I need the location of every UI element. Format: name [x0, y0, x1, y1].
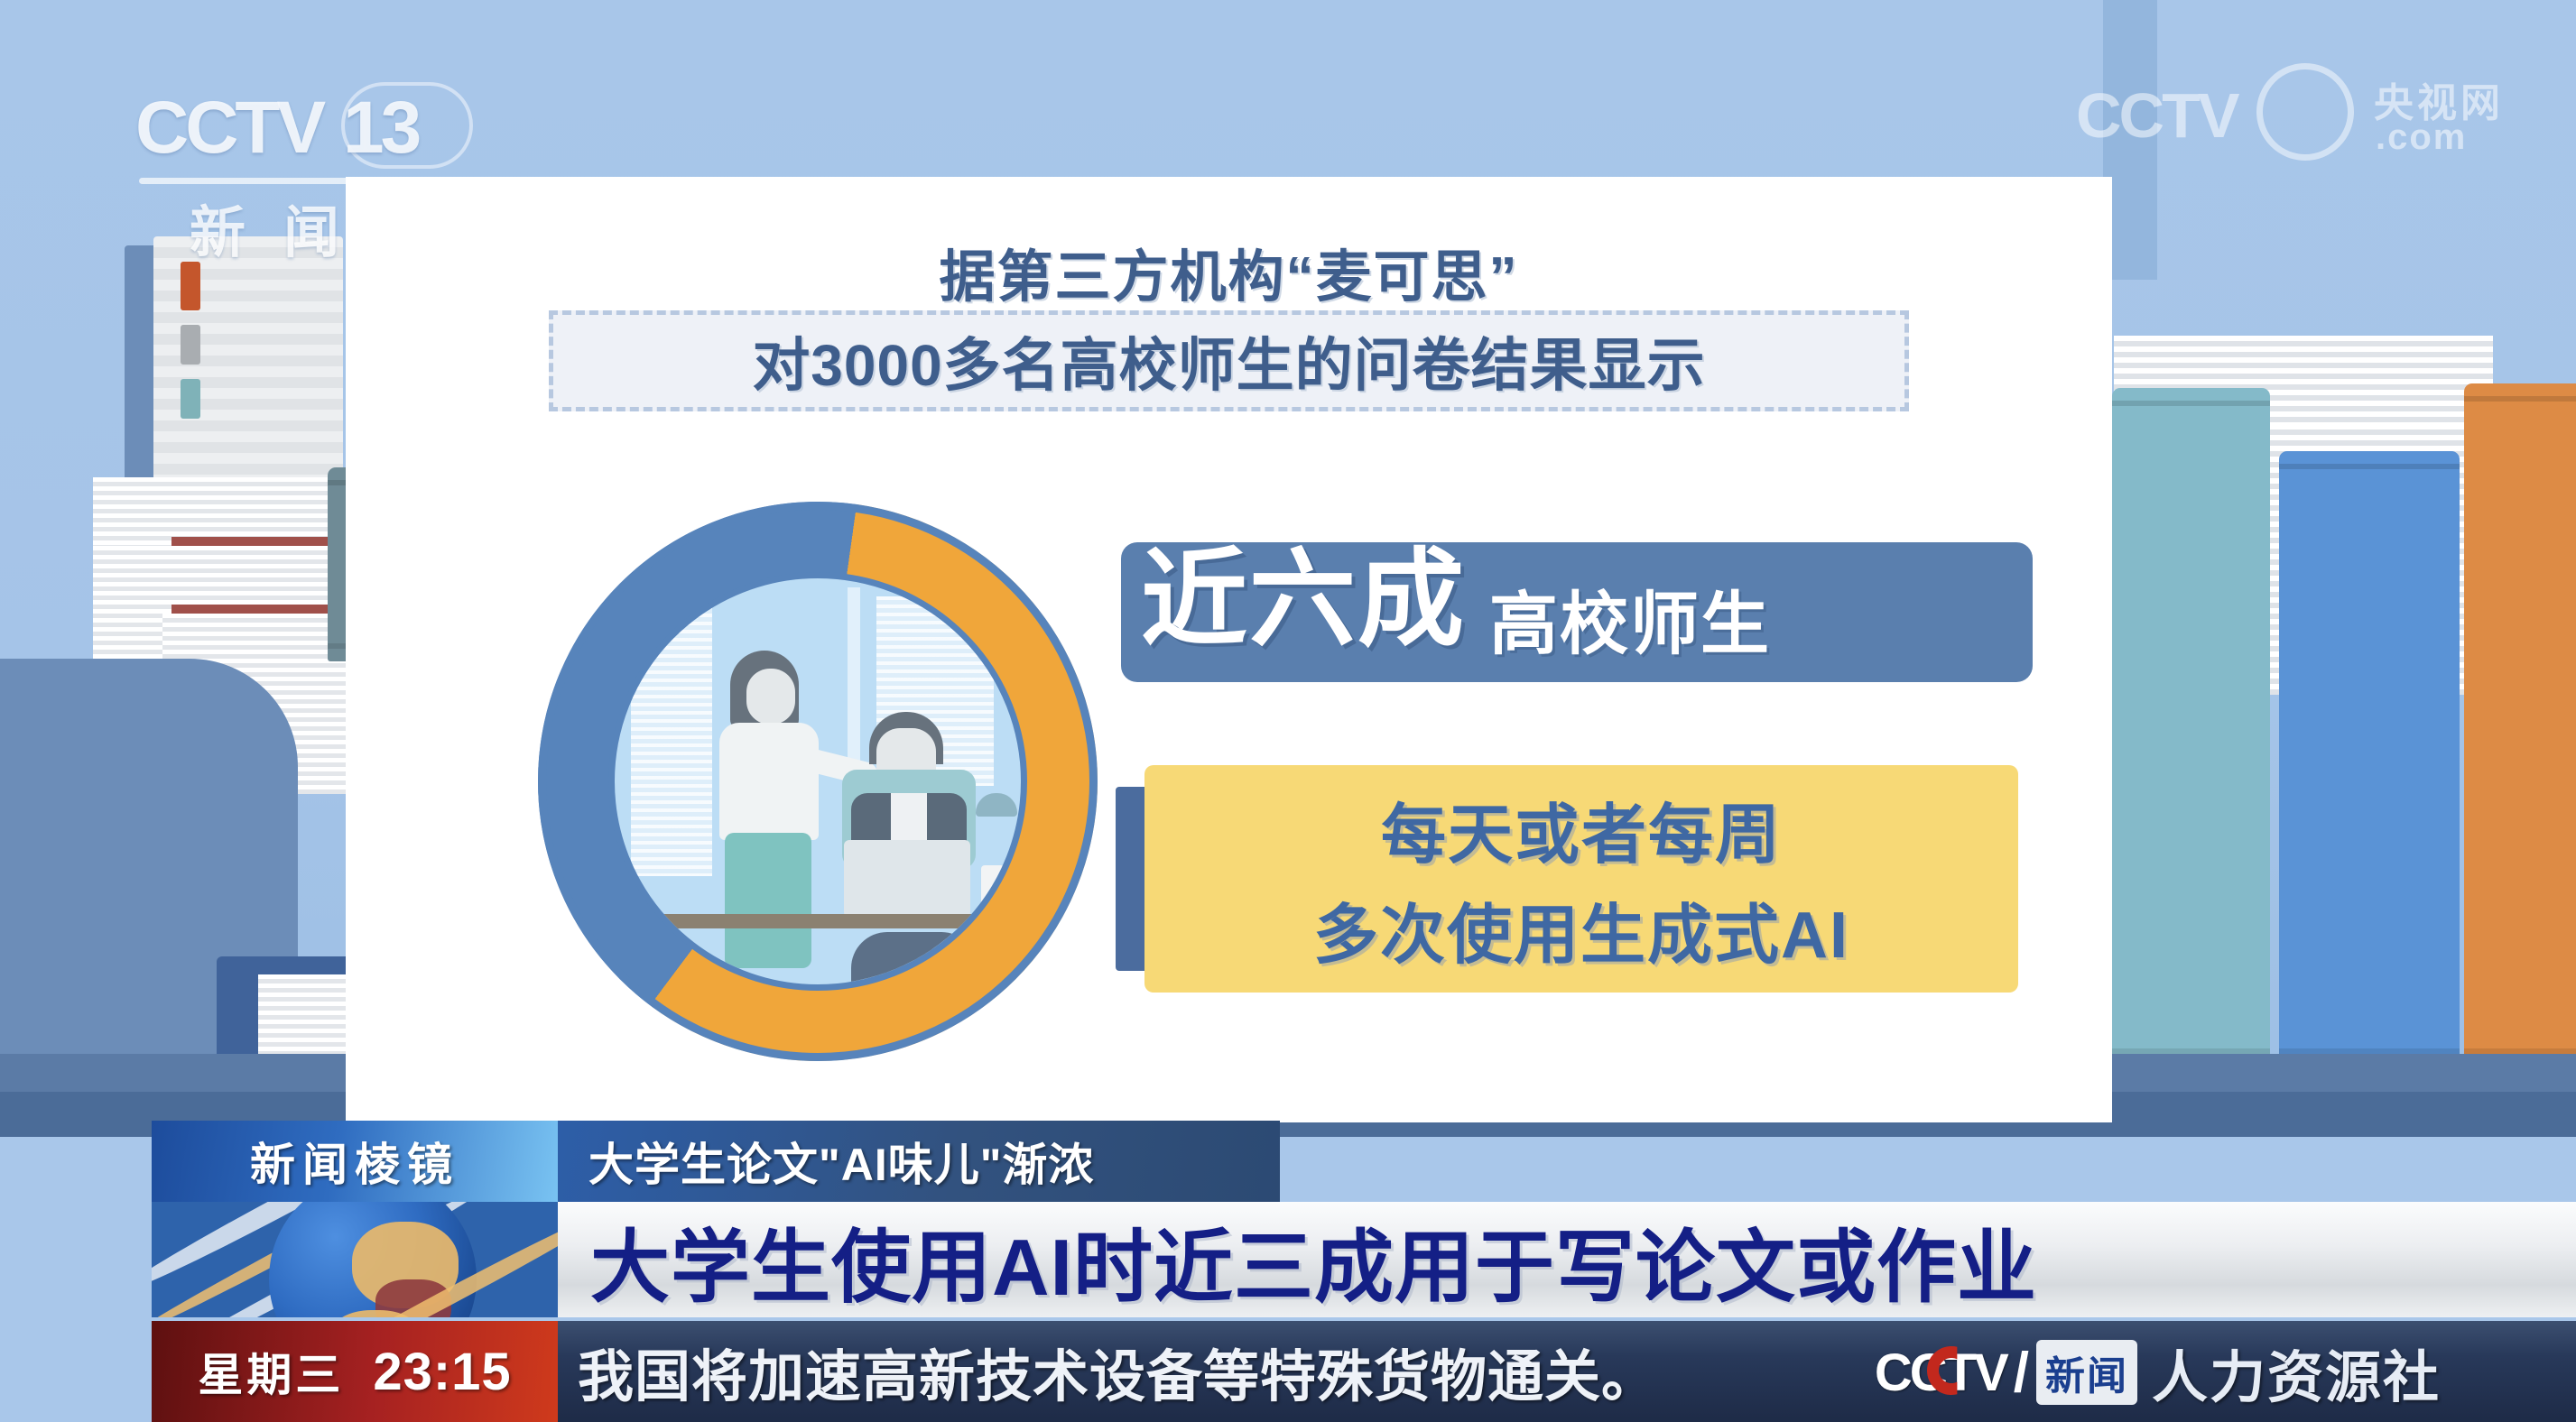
binder-tab-teal — [181, 379, 200, 419]
figure-woman-top — [719, 723, 819, 840]
donut-chart — [538, 502, 1098, 1061]
card-heading-line1: 据第三方机构“麦可思” — [346, 231, 2112, 312]
broadcast-screenshot: CCTV 13 新闻 CCTV 央视网 .com 据第三方机构“麦可思” 对30… — [0, 0, 2576, 1422]
kicker-label: 大学生论文"AI味儿"渐浓 — [588, 1129, 1094, 1194]
weekday-label: 星期三 — [198, 1339, 344, 1404]
figure-woman-pants — [725, 833, 811, 968]
scene-blinds-left — [631, 605, 712, 876]
laptop-screen — [844, 840, 970, 918]
binder-tab-orange — [181, 262, 200, 310]
callout-subject-label: 高校师生 — [1489, 568, 1771, 668]
yellow-callout-line1: 每天或者每周 — [1381, 781, 1782, 876]
binder-tab-gray — [181, 325, 200, 365]
datetime-box: 星期三 23:15 — [152, 1321, 558, 1422]
cctv-com-wordmark: CCTV — [2076, 79, 2238, 152]
cctv-com-watermark: CCTV 央视网 .com — [2076, 54, 2554, 162]
network-logo-slash-icon: / — [2014, 1341, 2029, 1405]
book-teal-right — [2112, 388, 2270, 1066]
donut-center-illustration — [608, 572, 1027, 991]
ticker-text: 我国将加速高新技术设备等特殊货物通关。 — [578, 1321, 1658, 1422]
network-logo: CCTV / 新闻 — [1875, 1337, 2137, 1408]
callout-big-number: 近六成 — [1141, 547, 1466, 653]
figure-chair-base — [851, 932, 978, 991]
cctv-com-domain: .com — [2376, 117, 2467, 158]
globe-graphic — [152, 1202, 558, 1317]
clock-label: 23:15 — [373, 1342, 511, 1402]
card-heading-line2: 对3000多名高校师生的问卷结果显示 — [549, 310, 1909, 411]
cctv-wordmark: CCTV — [135, 87, 322, 169]
scene-cup — [981, 865, 1005, 910]
headline-text: 大学生使用AI时近三成用于写论文或作业 — [590, 1207, 2037, 1314]
yellow-callout-line2: 多次使用生成式AI — [1313, 882, 1849, 976]
book-blue-right — [2279, 451, 2460, 1066]
cctv-com-ring-icon — [2256, 63, 2354, 161]
scene-desk-top — [615, 914, 1021, 928]
kicker-box: 大学生论文"AI味儿"渐浓 — [558, 1121, 1280, 1202]
blue-callout: 近六成 高校师生 — [1121, 542, 2033, 682]
program-tag-label: 新闻棱镜 — [250, 1129, 459, 1194]
org-text: 人力资源社 — [2152, 1335, 2576, 1409]
channel-number: 13 — [343, 87, 418, 169]
lower-third: 新闻棱镜 大学生论文"AI味儿"渐浓 大学生使用AI时近三成用于写论文或作业 星… — [0, 1121, 2576, 1422]
yellow-callout: 每天或者每周 多次使用生成式AI — [1144, 765, 2018, 993]
scene-desk-lamp — [976, 793, 1017, 817]
cctv-logo-text: CCTV 13 — [135, 86, 418, 171]
program-tag-box: 新闻棱镜 — [152, 1121, 558, 1202]
book-orange-right — [2464, 383, 2576, 1066]
figure-woman-face — [746, 669, 795, 725]
network-badge-label: 新闻 — [2036, 1340, 2137, 1405]
